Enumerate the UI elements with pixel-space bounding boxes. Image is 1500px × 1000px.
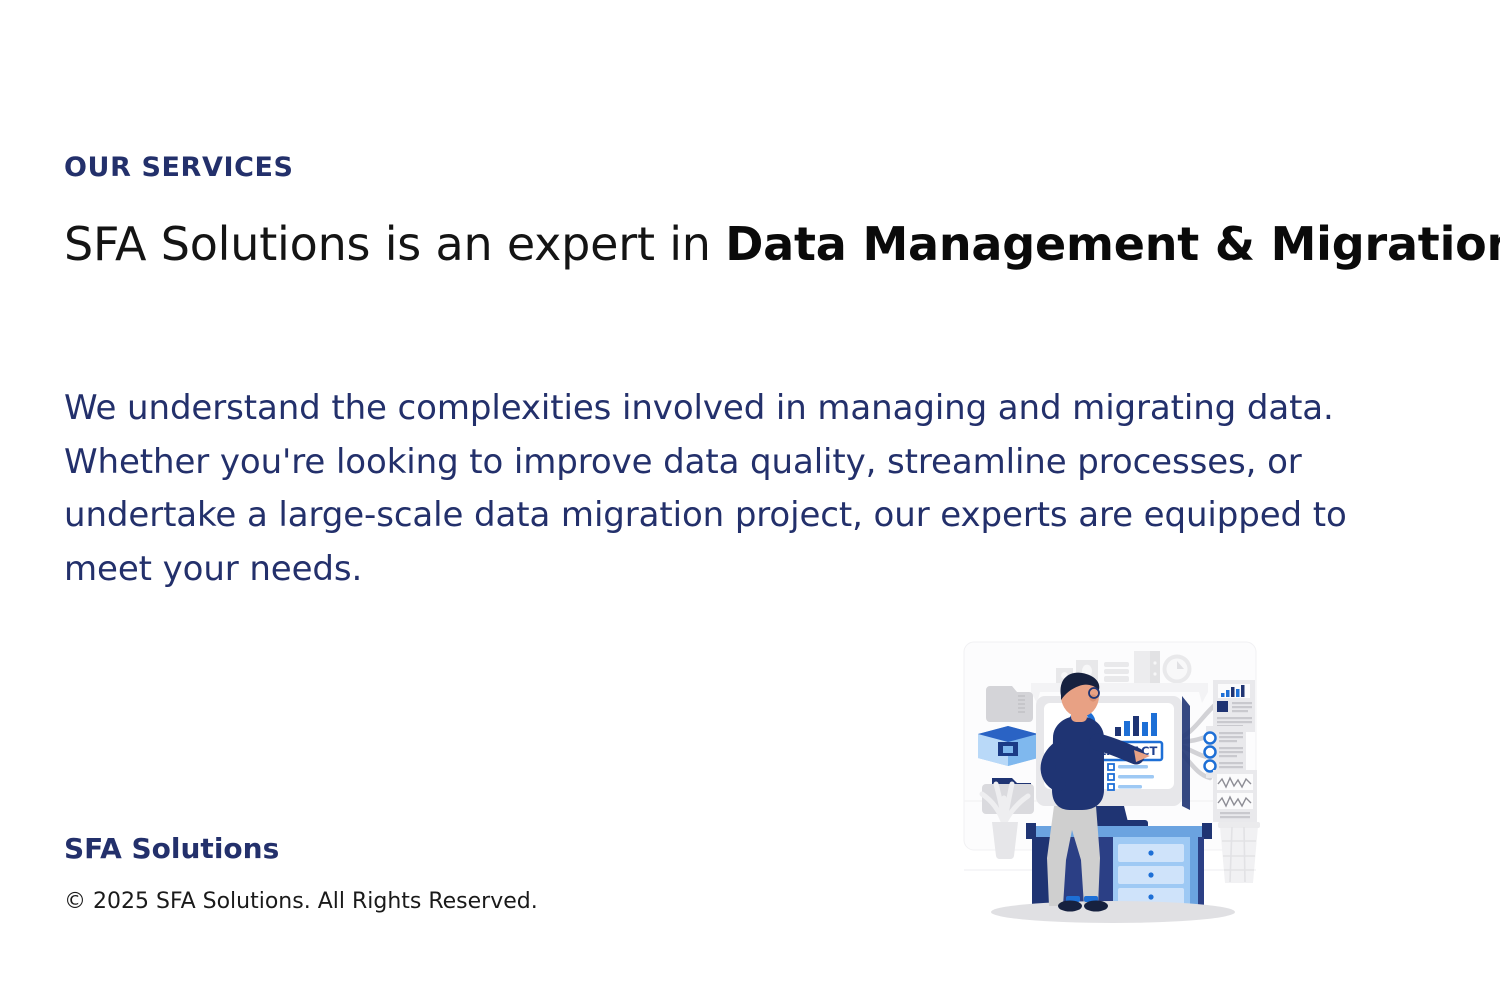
section-eyebrow: OUR SERVICES xyxy=(64,152,1464,183)
drawer-knob[interactable] xyxy=(1148,894,1153,899)
database-box-icon xyxy=(978,726,1038,766)
books xyxy=(1104,662,1129,682)
headline-emphasis-text: Data Management & Migration. xyxy=(725,217,1500,271)
shelf-board xyxy=(1031,683,1208,692)
page-title: SFA Solutions is an expert in Data Manag… xyxy=(64,217,1464,271)
desk-top-edge-left xyxy=(1026,823,1036,839)
document-card-bar-chart xyxy=(1213,680,1255,732)
desk-top-edge-right xyxy=(1202,823,1212,839)
illustration-svg: EXTRACT xyxy=(958,638,1268,930)
plant-pot xyxy=(992,822,1018,859)
person-shoe xyxy=(1084,901,1108,912)
monitor-stand-neck xyxy=(1092,806,1128,822)
desk-drawers xyxy=(1113,837,1198,909)
footer-copyright: © 2025 SFA Solutions. All Rights Reserve… xyxy=(64,888,864,917)
footer-brand-name: SFA Solutions xyxy=(64,832,864,866)
services-section: OUR SERVICES SFA Solutions is an expert … xyxy=(64,152,1464,271)
drawer-knob[interactable] xyxy=(1148,850,1153,855)
section-body-text: We understand the complexities involved … xyxy=(64,382,1394,597)
footer: SFA Solutions © 2025 SFA Solutions. All … xyxy=(64,832,864,916)
monitor-side xyxy=(1182,696,1190,810)
card-text-lines xyxy=(1219,732,1243,772)
binder xyxy=(1134,651,1160,683)
wastebasket xyxy=(1218,822,1260,883)
data-extraction-illustration: EXTRACT xyxy=(958,638,1268,930)
desk-left-panel xyxy=(1032,837,1050,909)
person-shoe xyxy=(1058,901,1082,912)
document-card-waveform xyxy=(1213,770,1257,822)
person-sweater xyxy=(1052,716,1104,810)
page-root: OUR SERVICES SFA Solutions is an expert … xyxy=(0,0,1500,1000)
headline-lead-text: SFA Solutions is an expert in xyxy=(64,217,725,271)
floor-shadow xyxy=(991,901,1235,923)
card-radio-items xyxy=(1205,733,1216,772)
wall-clock-icon xyxy=(1163,655,1192,684)
drawer-knob[interactable] xyxy=(1148,872,1153,877)
